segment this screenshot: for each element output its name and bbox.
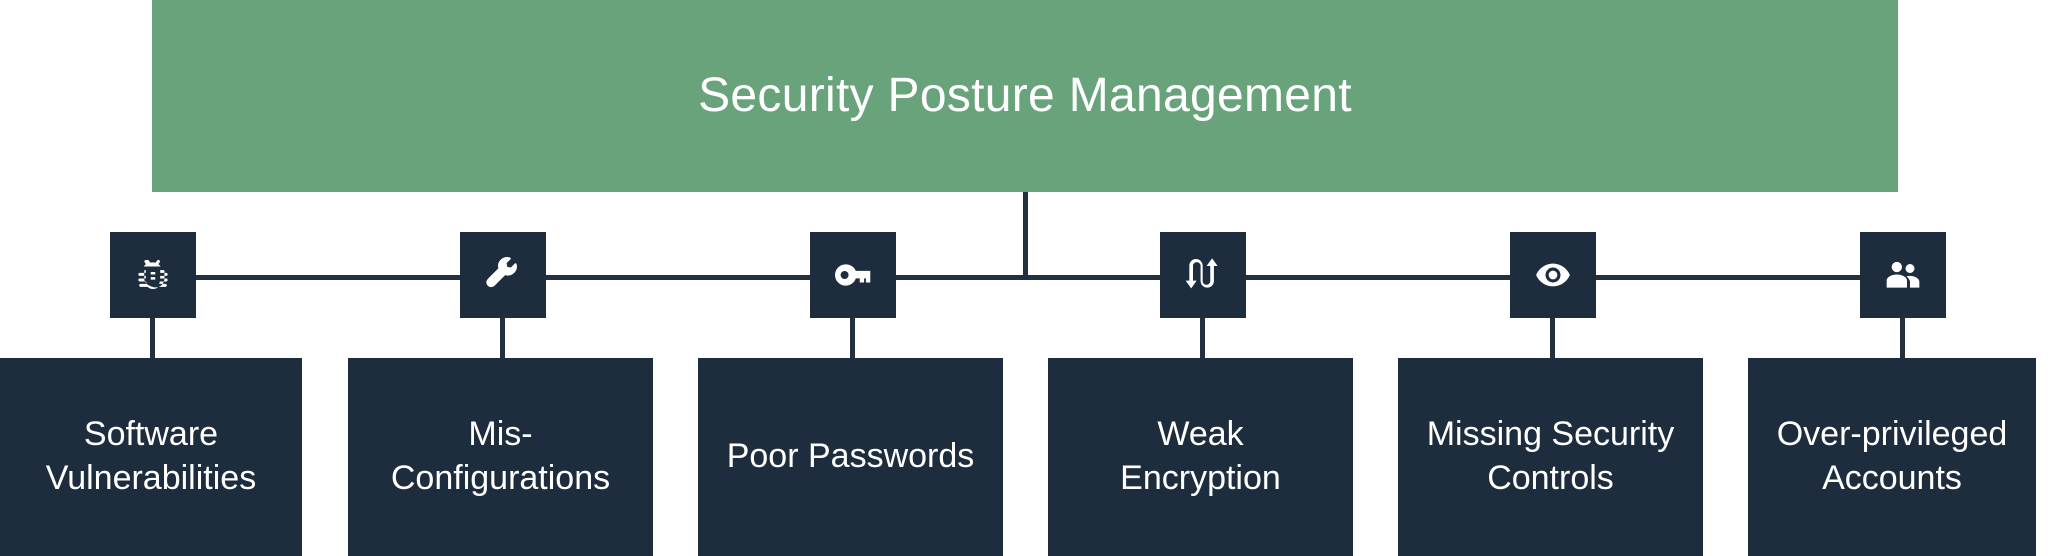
key-icon — [833, 255, 873, 295]
bus-segment-5-6 — [1595, 275, 1862, 280]
leaf-box-missing-security-controls[interactable]: Missing Security Controls — [1398, 358, 1703, 556]
leaf-box-weak-encryption[interactable]: Weak Encryption — [1048, 358, 1353, 556]
page-title: Security Posture Management — [698, 68, 1352, 123]
security-posture-diagram: Security Posture Management — [0, 0, 2048, 556]
leaf-label: Weak Encryption — [1120, 413, 1281, 500]
leaf-label-line: Missing Security — [1427, 413, 1675, 457]
leaf-label: Over-privileged Accounts — [1777, 413, 2008, 500]
icon-node-poor-passwords[interactable] — [810, 232, 896, 318]
leaf-label-line: Poor Passwords — [727, 435, 975, 479]
icon-node-mis-configurations[interactable] — [460, 232, 546, 318]
leaf-label: Missing Security Controls — [1427, 413, 1675, 500]
leaf-label: Poor Passwords — [727, 435, 975, 479]
swap-arrows-icon — [1183, 255, 1223, 295]
leaf-label: Software Vulnerabilities — [46, 413, 256, 500]
wrench-icon — [483, 255, 523, 295]
leaf-label-line: Encryption — [1120, 457, 1281, 501]
eye-icon — [1533, 255, 1573, 295]
icon-node-missing-security-controls[interactable] — [1510, 232, 1596, 318]
root-node-security-posture-management[interactable]: Security Posture Management — [152, 0, 1898, 192]
people-icon — [1883, 255, 1923, 295]
leaf-label-line: Accounts — [1777, 457, 2008, 501]
bus-segment-1-2 — [195, 275, 462, 280]
leaf-label-line: Vulnerabilities — [46, 457, 256, 501]
bus-segment-2-3 — [545, 275, 812, 280]
leaf-box-over-privileged-accounts[interactable]: Over-privileged Accounts — [1748, 358, 2036, 556]
leaf-label-line: Mis- — [391, 413, 610, 457]
icon-node-over-privileged-accounts[interactable] — [1860, 232, 1946, 318]
leaf-box-software-vulnerabilities[interactable]: Software Vulnerabilities — [0, 358, 302, 556]
leaf-label: Mis- Configurations — [391, 413, 610, 500]
root-connector-stem — [1023, 192, 1028, 277]
bug-icon — [133, 255, 173, 295]
bus-segment-3-4 — [895, 275, 1162, 280]
leaf-label-line: Weak — [1120, 413, 1281, 457]
icon-node-software-vulnerabilities[interactable] — [110, 232, 196, 318]
leaf-label-line: Controls — [1427, 457, 1675, 501]
leaf-label-line: Software — [46, 413, 256, 457]
bus-segment-4-5 — [1245, 275, 1512, 280]
leaf-label-line: Configurations — [391, 457, 610, 501]
leaf-label-line: Over-privileged — [1777, 413, 2008, 457]
icon-node-weak-encryption[interactable] — [1160, 232, 1246, 318]
leaf-box-mis-configurations[interactable]: Mis- Configurations — [348, 358, 653, 556]
leaf-box-poor-passwords[interactable]: Poor Passwords — [698, 358, 1003, 556]
